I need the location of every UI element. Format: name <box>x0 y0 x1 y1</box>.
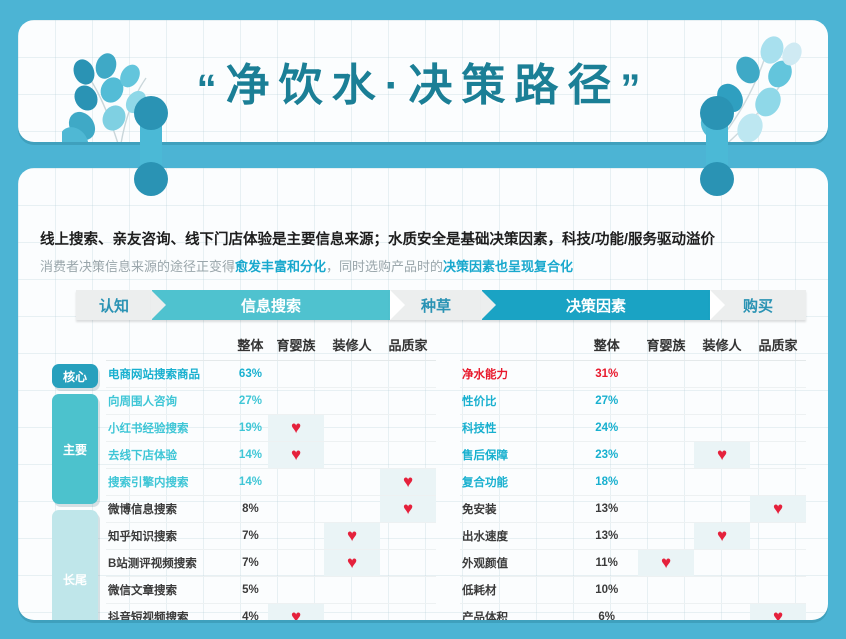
table-row[interactable]: 复合功能18% <box>460 468 806 495</box>
segment-cell-育婴族 <box>638 576 694 603</box>
page-title-text: 净饮水·决策路径 <box>226 61 621 110</box>
segment-cell-品质家 <box>380 441 436 468</box>
decision-factor-table: 整体育婴族装修人品质家净水能力31%性价比27%科技性24%售后保障23%♥复合… <box>460 330 806 620</box>
segment-cell-装修人 <box>324 468 380 495</box>
segment-cell-品质家: ♥ <box>750 495 806 522</box>
row-label: 电商网站搜索商品 <box>106 360 233 387</box>
table-row[interactable]: 免安装13%♥ <box>460 495 806 522</box>
segment-cell-装修人: ♥ <box>694 522 750 549</box>
table-row[interactable]: 微信文章搜索5% <box>106 576 436 603</box>
row-value: 11% <box>575 549 638 576</box>
subheadline: 消费者决策信息来源的途径正变得愈发丰富和分化，同时选购产品时的决策因素也呈现复合… <box>40 256 573 275</box>
row-value: 18% <box>575 468 638 495</box>
row-value: 23% <box>575 441 638 468</box>
table-row[interactable]: B站测评视频搜索7%♥ <box>106 549 436 576</box>
row-label: 产品体积 <box>460 603 575 620</box>
row-value: 14% <box>233 441 268 468</box>
segment-cell-装修人 <box>324 603 380 620</box>
row-value: 6% <box>575 603 638 620</box>
segment-cell-育婴族 <box>268 522 324 549</box>
stage-1[interactable]: 认知 <box>76 290 152 320</box>
segment-cell-装修人 <box>324 495 380 522</box>
segment-cell-育婴族 <box>638 522 694 549</box>
segment-cell-育婴族: ♥ <box>268 603 324 620</box>
segment-cell-装修人 <box>324 576 380 603</box>
row-value: 13% <box>575 495 638 522</box>
journey-stage-bar: 认知信息搜索种草决策因素购买 <box>76 290 806 320</box>
segment-cell-育婴族 <box>638 414 694 441</box>
heart-icon: ♥ <box>717 527 727 544</box>
segment-cell-品质家: ♥ <box>380 468 436 495</box>
table-header-row: 整体育婴族装修人品质家 <box>106 330 436 360</box>
main-card: 线上搜索、亲友咨询、线下门店体验是主要信息来源；水质安全是基础决策因素，科技/功… <box>18 168 828 620</box>
category-badge-core: 核心 <box>52 364 98 388</box>
segment-cell-装修人 <box>694 468 750 495</box>
segment-cell-品质家 <box>750 522 806 549</box>
table-row[interactable]: 性价比27% <box>460 387 806 414</box>
table-row[interactable]: 净水能力31% <box>460 360 806 387</box>
table-row[interactable]: 售后保障23%♥ <box>460 441 806 468</box>
segment-cell-装修人 <box>694 576 750 603</box>
stage-2[interactable]: 信息搜索 <box>152 290 390 320</box>
row-value: 5% <box>233 576 268 603</box>
table-row[interactable]: 搜索引擎内搜索14%♥ <box>106 468 436 495</box>
row-value: 31% <box>575 360 638 387</box>
subhead-part-2: ，同时选购产品时的 <box>326 259 443 274</box>
table-row[interactable]: 电商网站搜索商品63% <box>106 360 436 387</box>
heart-icon: ♥ <box>291 419 301 436</box>
row-label: 低耗材 <box>460 576 575 603</box>
subhead-part-1: 消费者决策信息来源的途径正变得 <box>40 259 235 274</box>
row-label: 售后保障 <box>460 441 575 468</box>
table-row[interactable]: 知乎知识搜索7%♥ <box>106 522 436 549</box>
table-row[interactable]: 去线下店体验14%♥ <box>106 441 436 468</box>
row-value: 8% <box>233 495 268 522</box>
row-value: 27% <box>575 387 638 414</box>
table-row[interactable]: 微博信息搜索8%♥ <box>106 495 436 522</box>
segment-cell-装修人 <box>324 414 380 441</box>
column-header-整体: 整体 <box>575 330 638 360</box>
table-row[interactable]: 抖音短视频搜索4%♥ <box>106 603 436 620</box>
table-row[interactable]: 科技性24% <box>460 414 806 441</box>
stage-label: 购买 <box>743 295 773 316</box>
column-header-label <box>460 330 575 360</box>
heart-icon: ♥ <box>347 554 357 571</box>
segment-cell-育婴族 <box>268 360 324 387</box>
segment-cell-育婴族 <box>638 468 694 495</box>
heart-icon: ♥ <box>661 554 671 571</box>
row-value: 13% <box>575 522 638 549</box>
segment-cell-装修人: ♥ <box>694 441 750 468</box>
segment-cell-育婴族 <box>638 387 694 414</box>
connector-peg-right <box>706 110 728 182</box>
segment-cell-装修人 <box>694 414 750 441</box>
column-header-品质家: 品质家 <box>380 330 436 360</box>
connector-peg-left <box>140 110 162 182</box>
row-value: 4% <box>233 603 268 620</box>
stage-label: 决策因素 <box>566 295 626 316</box>
decision-factor-table: 整体育婴族装修人品质家净水能力31%性价比27%科技性24%售后保障23%♥复合… <box>460 330 806 620</box>
segment-cell-装修人 <box>694 549 750 576</box>
segment-cell-品质家 <box>380 414 436 441</box>
headline: 线上搜索、亲友咨询、线下门店体验是主要信息来源；水质安全是基础决策因素，科技/功… <box>40 228 715 249</box>
row-value: 10% <box>575 576 638 603</box>
information-source-table: 整体育婴族装修人品质家电商网站搜索商品63%向周围人咨询27%小红书经验搜索19… <box>106 330 436 620</box>
row-label: 微信文章搜索 <box>106 576 233 603</box>
segment-cell-品质家 <box>380 522 436 549</box>
heart-icon: ♥ <box>773 500 783 517</box>
quote-open: “ <box>197 67 226 111</box>
segment-cell-育婴族 <box>268 387 324 414</box>
segment-cell-装修人: ♥ <box>324 549 380 576</box>
row-label: 出水速度 <box>460 522 575 549</box>
stage-label: 种草 <box>421 295 451 316</box>
row-label: 性价比 <box>460 387 575 414</box>
segment-cell-装修人 <box>694 360 750 387</box>
row-label: 向周围人咨询 <box>106 387 233 414</box>
row-value: 7% <box>233 549 268 576</box>
segment-cell-品质家 <box>750 468 806 495</box>
segment-cell-品质家: ♥ <box>380 495 436 522</box>
row-label: 抖音短视频搜索 <box>106 603 233 620</box>
segment-cell-装修人 <box>324 441 380 468</box>
row-label: 免安装 <box>460 495 575 522</box>
segment-cell-品质家 <box>380 360 436 387</box>
segment-cell-育婴族 <box>638 441 694 468</box>
stage-4[interactable]: 决策因素 <box>482 290 710 320</box>
row-value: 7% <box>233 522 268 549</box>
segment-cell-育婴族: ♥ <box>268 441 324 468</box>
stage-3[interactable]: 种草 <box>390 290 482 320</box>
segment-cell-装修人 <box>694 603 750 620</box>
row-label: 知乎知识搜索 <box>106 522 233 549</box>
table-row[interactable]: 外观颜值11%♥ <box>460 549 806 576</box>
segment-cell-品质家: ♥ <box>750 603 806 620</box>
segment-cell-品质家 <box>750 441 806 468</box>
table-row[interactable]: 小红书经验搜索19%♥ <box>106 414 436 441</box>
information-source-table: 整体育婴族装修人品质家电商网站搜索商品63%向周围人咨询27%小红书经验搜索19… <box>106 330 436 620</box>
segment-cell-品质家 <box>380 549 436 576</box>
segment-cell-育婴族 <box>268 468 324 495</box>
heart-icon: ♥ <box>773 608 783 620</box>
segment-cell-品质家 <box>750 387 806 414</box>
segment-cell-育婴族 <box>268 549 324 576</box>
segment-cell-装修人 <box>694 387 750 414</box>
row-value: 19% <box>233 414 268 441</box>
segment-cell-品质家 <box>750 576 806 603</box>
row-label: 外观颜值 <box>460 549 575 576</box>
category-badge-main: 主要 <box>52 394 98 504</box>
subhead-highlight-1: 愈发丰富和分化 <box>235 259 326 274</box>
stage-label: 信息搜索 <box>241 295 301 316</box>
segment-cell-育婴族 <box>638 495 694 522</box>
stage-5[interactable]: 购买 <box>710 290 806 320</box>
row-label: 去线下店体验 <box>106 441 233 468</box>
column-header-育婴族: 育婴族 <box>638 330 694 360</box>
row-value: 14% <box>233 468 268 495</box>
column-header-品质家: 品质家 <box>750 330 806 360</box>
segment-cell-品质家 <box>380 576 436 603</box>
table-row[interactable]: 低耗材10% <box>460 576 806 603</box>
heart-icon: ♥ <box>403 473 413 490</box>
row-label: 搜索引擎内搜索 <box>106 468 233 495</box>
column-header-装修人: 装修人 <box>324 330 380 360</box>
heart-icon: ♥ <box>717 446 727 463</box>
segment-cell-装修人 <box>324 387 380 414</box>
category-badge-tail: 长尾 <box>52 510 98 620</box>
stage-label: 认知 <box>99 295 129 316</box>
row-label: B站测评视频搜索 <box>106 549 233 576</box>
row-value: 27% <box>233 387 268 414</box>
row-label: 科技性 <box>460 414 575 441</box>
row-label: 小红书经验搜索 <box>106 414 233 441</box>
segment-cell-装修人: ♥ <box>324 522 380 549</box>
segment-cell-装修人 <box>694 495 750 522</box>
table-row[interactable]: 产品体积6%♥ <box>460 603 806 620</box>
segment-cell-育婴族: ♥ <box>268 414 324 441</box>
heart-icon: ♥ <box>291 608 301 620</box>
table-row[interactable]: 出水速度13%♥ <box>460 522 806 549</box>
segment-cell-育婴族 <box>268 576 324 603</box>
column-header-育婴族: 育婴族 <box>268 330 324 360</box>
column-header-装修人: 装修人 <box>694 330 750 360</box>
heart-icon: ♥ <box>403 500 413 517</box>
table-header-row: 整体育婴族装修人品质家 <box>460 330 806 360</box>
row-value: 63% <box>233 360 268 387</box>
segment-cell-育婴族 <box>638 603 694 620</box>
heart-icon: ♥ <box>291 446 301 463</box>
segment-cell-装修人 <box>324 360 380 387</box>
segment-cell-育婴族 <box>268 495 324 522</box>
segment-cell-育婴族: ♥ <box>638 549 694 576</box>
subhead-highlight-2: 决策因素也呈现复合化 <box>443 259 573 274</box>
table-row[interactable]: 向周围人咨询27% <box>106 387 436 414</box>
row-label: 微博信息搜索 <box>106 495 233 522</box>
row-label: 净水能力 <box>460 360 575 387</box>
segment-cell-品质家 <box>750 360 806 387</box>
quote-close: ” <box>620 67 649 111</box>
column-header-整体: 整体 <box>233 330 268 360</box>
segment-cell-品质家 <box>750 414 806 441</box>
column-header-label <box>106 330 233 360</box>
heart-icon: ♥ <box>347 527 357 544</box>
segment-cell-品质家 <box>380 603 436 620</box>
row-value: 24% <box>575 414 638 441</box>
segment-cell-育婴族 <box>638 360 694 387</box>
segment-cell-品质家 <box>750 549 806 576</box>
segment-cell-品质家 <box>380 387 436 414</box>
row-label: 复合功能 <box>460 468 575 495</box>
